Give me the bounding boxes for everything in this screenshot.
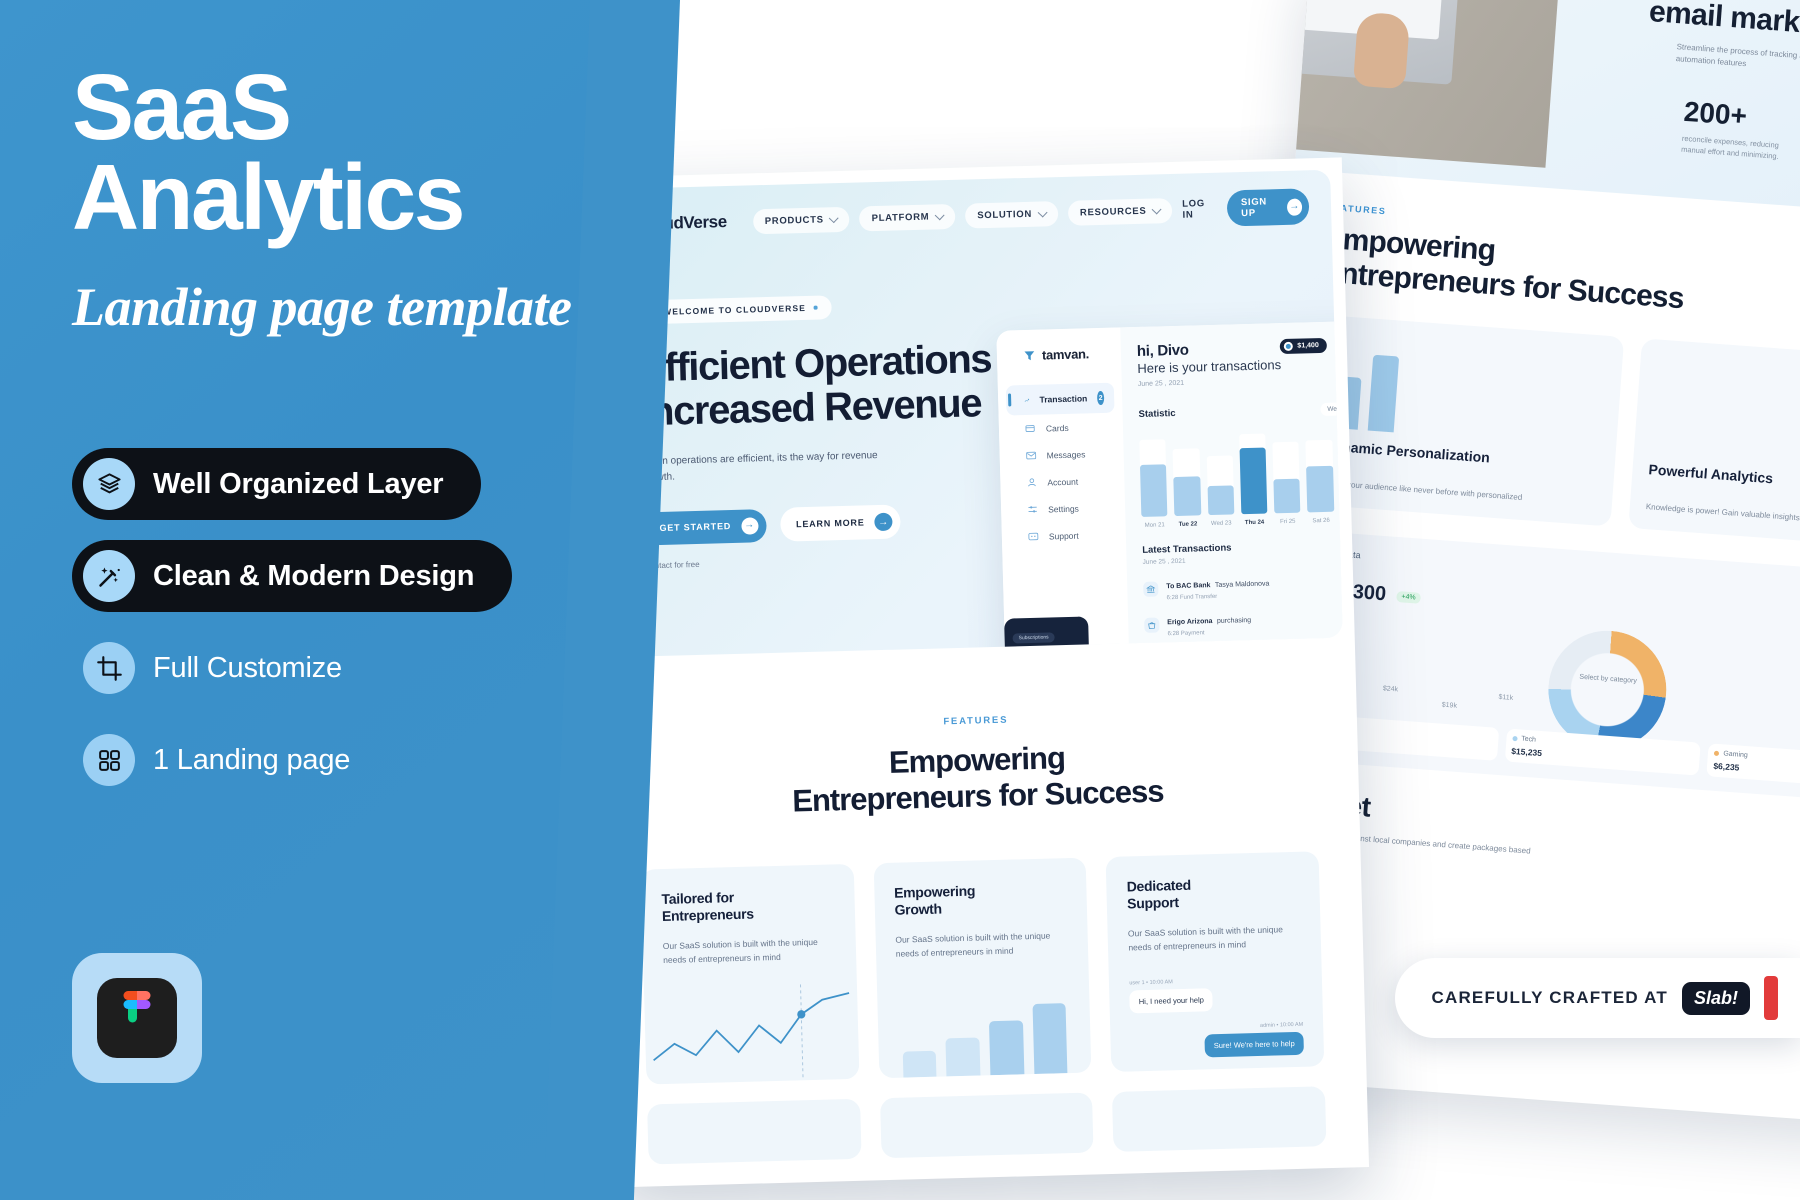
nav-item-platform[interactable]: PLATFORM [859, 203, 955, 231]
feature-card-title-l1: Tailored for [661, 889, 734, 907]
legend-dot-icon [1714, 751, 1719, 756]
bar-value [1140, 464, 1168, 517]
dash-menu-label: Cards [1046, 422, 1069, 433]
sales-legend: Furniture $55,235 Tech $15,235 Gaming [1302, 714, 1800, 791]
feature-card-placeholder[interactable] [647, 1099, 861, 1165]
dash-menu-support[interactable]: Support [1010, 521, 1119, 551]
dash-menu-badge: 2 [1097, 391, 1104, 405]
feature-card-growth[interactable]: Empowering Growth Our SaaS solution is b… [873, 857, 1091, 1078]
left-promo-panel: SaaS Analytics Landing page template Wel… [0, 0, 620, 1200]
bar-value [1239, 448, 1267, 514]
dash-menu-settings[interactable]: Settings [1009, 494, 1118, 524]
features-title-line1: Empowering [888, 740, 1065, 780]
arrow-right-icon: → [874, 513, 892, 531]
dash-menu-account[interactable]: Account [1008, 467, 1117, 497]
sliders-icon [1027, 504, 1038, 515]
pie-tick: $11k [1498, 694, 1513, 702]
x-axis-label: Thu 24 [1241, 520, 1267, 527]
x-axis-label: Sat 26 [1308, 518, 1334, 525]
get-started-label: GET STARTED [659, 521, 731, 533]
chat-bubble: Hi, I need your help [1130, 988, 1214, 1013]
transaction-row[interactable]: Erigo Arizona purchasing 6:28 Payment -$… [1144, 606, 1343, 638]
chevron-down-icon [935, 210, 945, 220]
back-features-title-l2: Entrepreneurs for Success [1320, 255, 1685, 315]
dash-menu-label: Messages [1047, 449, 1086, 460]
promo-title-line2: Analytics [72, 152, 620, 242]
bar [902, 1051, 936, 1078]
promo-subtitle: Landing page template [72, 276, 620, 338]
chart-tooltip: $1,400 [1279, 338, 1327, 354]
feature-item-well-organized-layer: Well Organized Layer [72, 448, 481, 520]
signup-button[interactable]: SIGN UP → [1227, 188, 1310, 226]
nav-label: PRODUCTS [765, 214, 824, 227]
card-icon [1025, 423, 1036, 434]
latest-transactions-date: June 25 , 2021 [1143, 557, 1232, 566]
learn-more-button[interactable]: LEARN MORE → [780, 504, 901, 541]
magic-wand-icon [83, 550, 135, 602]
legend-item: Tech $15,235 [1504, 729, 1701, 776]
feature-item-label: Clean & Modern Design [153, 560, 474, 593]
feature-item-1-landing-page: 1 Landing page [72, 724, 350, 796]
feature-card-title-l1: Empowering [894, 882, 975, 900]
x-axis-label: Sat 27 [1341, 517, 1343, 524]
signup-label: SIGN UP [1241, 196, 1280, 219]
x-axis-label: Tue 22 [1175, 521, 1201, 528]
dash-menu-label: Settings [1048, 503, 1079, 514]
x-axis-label: Wed 23 [1208, 520, 1234, 527]
bar-column [1206, 430, 1235, 515]
feature-item-full-customize: Full Customize [72, 632, 342, 704]
bar-value [1306, 466, 1334, 513]
features-tag: FEATURES [595, 705, 1357, 737]
dashboard-date: June 25 , 2021 [1138, 375, 1343, 388]
chat-message-outgoing: admin • 10:00 AM Sure! We're here to hel… [1204, 1022, 1304, 1058]
navbar-actions: LOG IN SIGN UP → [1182, 188, 1310, 227]
transaction-info: Erigo Arizona purchasing 6:28 Payment [1167, 609, 1252, 637]
feature-card-title: Tailored for Entrepreneurs [661, 886, 835, 926]
contact-note: Contact for free [644, 551, 1016, 570]
feature-cards-row2 [605, 1085, 1368, 1166]
legend-value: $6,235 [1713, 761, 1800, 784]
back-card-title: Powerful Analytics [1648, 461, 1774, 486]
chat-meta: admin • 10:00 AM [1204, 1022, 1303, 1031]
bar-column [1305, 428, 1334, 513]
dash-menu-transaction[interactable]: Transaction 2 [1006, 383, 1115, 416]
nav-label: RESOURCES [1080, 205, 1147, 218]
slab-brand-logo: Slab! [1682, 982, 1750, 1015]
hand-left [1249, 4, 1306, 82]
nav-label: SOLUTION [977, 208, 1032, 220]
figma-logo-icon [97, 978, 177, 1058]
grid-icon [83, 734, 135, 786]
feature-card-title: Dedicated Support [1126, 874, 1300, 914]
chevron-down-icon [1037, 207, 1047, 217]
crafted-badge: CAREFULLY CRAFTED AT Slab! [1395, 958, 1800, 1038]
feature-card-placeholder[interactable] [880, 1092, 1094, 1158]
tooltip-value: $1,400 [1297, 342, 1319, 350]
feature-item-label: Full Customize [153, 652, 342, 685]
statistic-bar-chart [1139, 427, 1343, 517]
dash-menu-label: Transaction [1039, 393, 1087, 404]
latest-title-wrap: Latest Transactions June 25 , 2021 [1142, 543, 1232, 566]
bar-column [1172, 431, 1201, 516]
feature-card-placeholder[interactable] [1112, 1086, 1326, 1152]
statistic-title: Statistic [1138, 408, 1175, 420]
bar-column [1272, 429, 1301, 514]
bar [946, 1037, 981, 1076]
bar-column [1339, 427, 1343, 512]
dashboard-main: hi, Divo Here is your transactions June … [1120, 320, 1342, 657]
x-axis-label: Fri 25 [1275, 519, 1301, 526]
bar-column [1139, 432, 1168, 517]
learn-more-label: LEARN MORE [796, 517, 865, 529]
dashboard-sidebar: tamvan. Transaction 2 Cards Messages [996, 327, 1129, 657]
chat-message-incoming: user 1 • 10:00 AM Hi, I need your help [1129, 978, 1213, 1013]
feature-card-title-l2: Support [1127, 894, 1179, 911]
arrow-right-icon: → [741, 517, 758, 534]
dash-menu-label: Account [1047, 476, 1078, 487]
trend-icon [1024, 394, 1030, 405]
transaction-person: purchasing [1217, 617, 1251, 625]
back-card-desc: Reach your audience like never before wi… [1321, 477, 1596, 509]
promo-title-line1: SaaS [72, 62, 620, 152]
dashboard-preview-card: tamvan. Transaction 2 Cards Messages [996, 320, 1342, 657]
primary-landing-page-mockup: CloudVerse PRODUCTS PLATFORM SOLUTION RE… [580, 157, 1369, 1187]
subscription-chip: Subscriptions [1012, 632, 1054, 643]
chevron-down-icon [1152, 204, 1162, 214]
x-axis-label: Mon 21 [1142, 522, 1168, 529]
chevron-down-icon [829, 213, 839, 223]
statistic-header: Statistic Weekly [1138, 402, 1342, 421]
shop-icon [1144, 617, 1159, 632]
back-hero-stats: 200+ reconcile expenses, reducing manual… [1681, 96, 1800, 177]
hand-right [1353, 12, 1410, 90]
transaction-info: To BAC Bank Tasya Maldonova 6:28 Fund Tr… [1166, 573, 1270, 602]
feature-card-title: Empowering Growth [894, 880, 1068, 920]
feature-card-title-l1: Dedicated [1126, 877, 1191, 895]
feature-item-label: Well Organized Layer [153, 468, 443, 501]
bar-value [1339, 450, 1342, 511]
features-title-line2: Entrepreneurs for Success [792, 773, 1164, 818]
back-card-desc: Knowledge is power! Gain valuable insigh… [1645, 501, 1800, 533]
feature-card-tailored[interactable]: Tailored for Entrepreneurs Our SaaS solu… [641, 864, 859, 1085]
support-icon [1028, 531, 1039, 542]
navbar: CloudVerse PRODUCTS PLATFORM SOLUTION RE… [592, 170, 1331, 244]
get-started-button[interactable]: GET STARTED → [643, 509, 766, 545]
legend-name: Gaming [1723, 751, 1748, 760]
legend-item: Gaming $6,235 [1707, 744, 1800, 791]
period-selector[interactable]: Weekly [1320, 402, 1343, 416]
bar-track [1339, 430, 1343, 511]
hero-copy: WELCOME TO CLOUDVERSE Efficient Operatio… [637, 290, 1016, 570]
bar [989, 1020, 1024, 1075]
chart-x-axis: Mon 21Tue 22Wed 23Thu 24Fri 25Sat 26Sat … [1142, 517, 1343, 529]
back-feature-card[interactable]: Dynamic Personalization Reach your audie… [1304, 315, 1624, 527]
sales-data-card: Sales Data January 2023 Revenue $80,300 … [1285, 530, 1800, 806]
feature-item-clean-modern-design: Clean & Modern Design [72, 540, 512, 612]
revenue-delta: +4% [1396, 592, 1421, 605]
hero-headline-line2: Increased Revenue [640, 381, 982, 434]
transaction-title: To BAC Bank [1166, 582, 1210, 590]
laptop-screen [1239, 0, 1445, 40]
dash-menu-cards[interactable]: Cards [1007, 413, 1116, 443]
bar-value [1274, 479, 1301, 513]
feature-card-desc: Our SaaS solution is built with the uniq… [895, 929, 1068, 961]
nav-item-solution[interactable]: SOLUTION [965, 201, 1058, 228]
feature-card-title-l2: Entrepreneurs [662, 906, 754, 924]
back-feature-cards: Dynamic Personalization Reach your audie… [1304, 315, 1800, 551]
bar-chart [901, 999, 1068, 1077]
crafted-label: CAREFULLY CRAFTED AT [1431, 988, 1668, 1008]
latest-transactions-title: Latest Transactions [1142, 543, 1231, 556]
legend-name: Tech [1521, 736, 1536, 744]
tamvan-logo-icon [1023, 349, 1036, 362]
chat-bubble: Sure! We're here to help [1204, 1032, 1304, 1058]
tooltip-dot-icon [1283, 342, 1292, 351]
bar-value [1207, 486, 1234, 515]
transaction-sub: 6:28 Fund Transfer [1167, 592, 1270, 601]
feature-card-desc: Our SaaS solution is built with the uniq… [1128, 923, 1301, 955]
accent-bar [1764, 976, 1778, 1020]
hero-cta-group: GET STARTED → LEARN MORE → [643, 501, 1016, 545]
back-feature-card[interactable]: Powerful Analytics Knowledge is power! G… [1628, 339, 1800, 551]
dash-menu-messages[interactable]: Messages [1007, 440, 1116, 470]
login-button[interactable]: LOG IN [1182, 198, 1215, 221]
stat-value: 200+ [1683, 96, 1800, 137]
legend-dot-icon [1512, 736, 1517, 741]
promo-feature-list: Well Organized Layer Clean & Modern Desi… [72, 448, 620, 796]
nav-item-resources[interactable]: RESOURCES [1068, 197, 1173, 225]
feature-item-label: 1 Landing page [153, 744, 350, 777]
transaction-sub: 6:28 Payment [1167, 629, 1251, 637]
transaction-person: Tasya Maldonova [1215, 581, 1270, 589]
period-label: Weekly [1327, 405, 1342, 413]
envelope-icon [1026, 450, 1037, 461]
stat-item: 200+ reconcile expenses, reducing manual… [1681, 96, 1800, 164]
arrow-right-icon: → [1287, 198, 1302, 215]
feature-card-desc: Our SaaS solution is built with the uniq… [663, 935, 836, 967]
dash-menu-label: Support [1049, 530, 1079, 541]
nav-item-products[interactable]: PRODUCTS [752, 206, 850, 234]
crop-icon [83, 642, 135, 694]
layers-icon [83, 458, 135, 510]
bank-icon [1143, 581, 1158, 596]
feature-cards: Tailored for Entrepreneurs Our SaaS solu… [599, 850, 1367, 1086]
dashboard-brand-name: tamvan. [1042, 346, 1089, 362]
dashboard-brand: tamvan. [997, 345, 1121, 363]
back-hero-desc: Streamline the process of tracking and m… [1675, 41, 1800, 87]
figma-badge [72, 953, 202, 1083]
bar-column [1239, 430, 1268, 515]
hero-headline: Efficient Operations Increased Revenue [639, 336, 1013, 434]
mockup-canvas: email marketing Streamline the process o… [520, 0, 1800, 1200]
mini-bar [1368, 355, 1399, 433]
line-chart [644, 983, 859, 1085]
features-section: FEATURES Empowering Entrepreneurs for Su… [593, 637, 1368, 1165]
laptop-photo [1228, 0, 1564, 168]
transaction-row[interactable]: To BAC Bank Tasya Maldonova 6:28 Fund Tr… [1143, 570, 1343, 602]
hero-eyebrow-label: WELCOME TO CLOUDVERSE [663, 303, 806, 317]
promo-title: SaaS Analytics [72, 62, 620, 242]
transaction-title: Erigo Arizona [1167, 618, 1212, 626]
hero-section: CloudVerse PRODUCTS PLATFORM SOLUTION RE… [592, 170, 1342, 658]
latest-transactions-header: Latest Transactions June 25 , 2021 Show … [1142, 539, 1343, 566]
laptop-illustration [1228, 0, 1462, 85]
dot-icon [814, 306, 818, 310]
pie-tick: $24k [1383, 685, 1399, 693]
chat-meta: user 1 • 10:00 AM [1129, 978, 1212, 986]
features-title: Empowering Entrepreneurs for Success [596, 732, 1360, 824]
user-icon [1026, 477, 1037, 488]
stat-desc: reconcile expenses, reducing manual effo… [1681, 133, 1800, 164]
bar-value [1174, 477, 1201, 516]
hero-subtext: When operations are efficient, its the w… [641, 447, 907, 485]
feature-card-title-l2: Growth [894, 901, 942, 918]
pie-tick: $19k [1442, 702, 1458, 710]
nav-label: PLATFORM [872, 211, 930, 224]
feature-card-support[interactable]: Dedicated Support Our SaaS solution is b… [1106, 851, 1324, 1072]
bar [1032, 1003, 1068, 1074]
